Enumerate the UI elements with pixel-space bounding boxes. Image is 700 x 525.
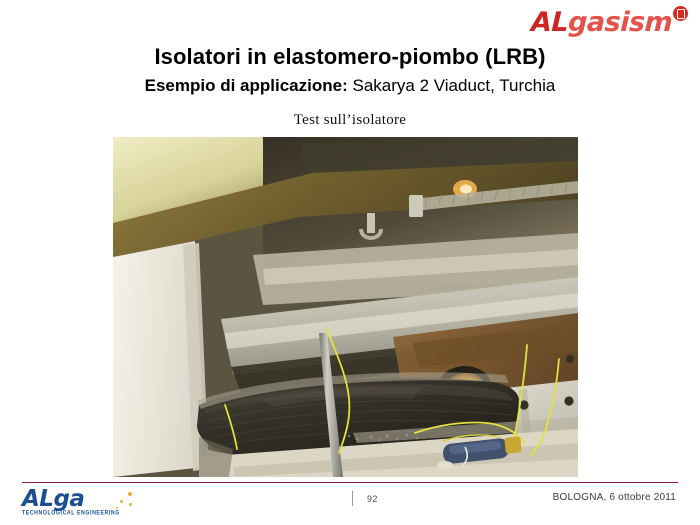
footer-logo-alga: ALga TECHNOLOGICAL ENGINEERING: [22, 487, 152, 521]
brand-logo-text-part-b: gasism: [567, 7, 672, 38]
footer-divider-rule: [22, 482, 678, 483]
footer-logo-tagline: TECHNOLOGICAL ENGINEERING: [22, 510, 120, 517]
footer-logo-dots-icon: [114, 491, 138, 511]
isolator-test-photo: [113, 137, 578, 477]
registered-badge-icon: [673, 6, 688, 21]
brand-logo-text: ALgasism: [530, 8, 672, 38]
page-title: Isolatori in elastomero-piombo (LRB): [0, 44, 700, 70]
corner-swoosh-decoration: [0, 0, 116, 48]
footer-vertical-separator: [352, 491, 353, 506]
footer-event-info: BOLOGNA, 6 ottobre 2011: [553, 492, 676, 503]
brand-logo-text-part-a: AL: [530, 7, 568, 38]
page-subtitle: Esempio di applicazione: Sakarya 2 Viadu…: [0, 76, 700, 96]
slide-canvas: ALgasism Isolatori in elastomero-piombo …: [0, 0, 700, 525]
page-number: 92: [367, 494, 378, 504]
brand-logo-algasism: ALgasism: [531, 8, 688, 42]
subtitle-value: Sakarya 2 Viaduct, Turchia: [352, 76, 555, 95]
subtitle-label: Esempio di applicazione:: [145, 76, 348, 95]
photo-caption: Test sull’isolatore: [0, 112, 700, 129]
footer-page-area: 92: [352, 491, 378, 506]
